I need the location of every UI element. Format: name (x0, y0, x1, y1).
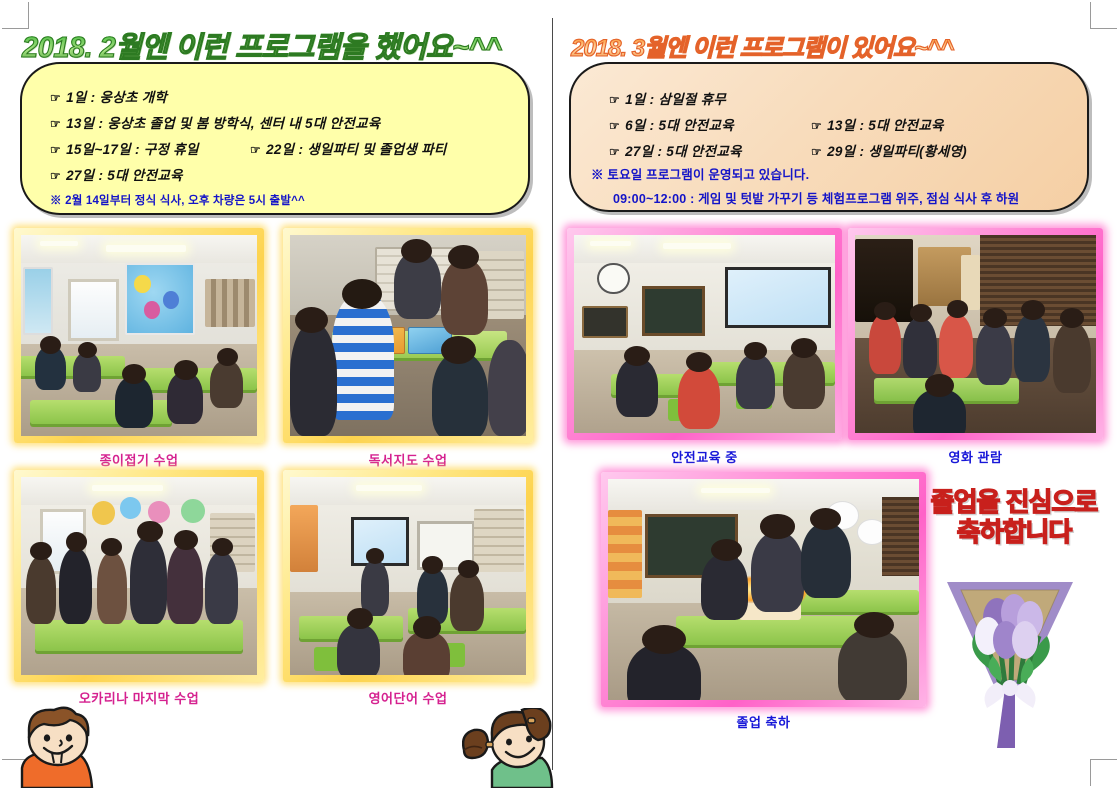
pointer-icon: ☞ (609, 119, 620, 133)
left-schedule-box: ☞1일 : 웅상초 개학 ☞13일 : 웅상초 졸업 및 봄 방학식, 센터 내… (20, 62, 530, 215)
photo-frame-ocarina (14, 470, 264, 682)
photo-frame-origami (14, 228, 264, 443)
photo-ocarina (21, 477, 257, 675)
photo-caption-reading: 독서지도 수업 (283, 450, 533, 469)
congratulations-wordart: 졸업을 진심으로 축하합니다 (928, 487, 1100, 547)
schedule-item: ☞13일 : 5대 안전교육 (811, 114, 944, 134)
pointer-icon: ☞ (50, 91, 61, 105)
cartoon-girl-icon (462, 708, 554, 788)
schedule-item: ☞22일 : 생일파티 및 졸업생 파티 (250, 138, 447, 158)
pointer-icon: ☞ (811, 145, 822, 159)
schedule-item: ☞29일 : 생일파티(황세영) (811, 140, 967, 160)
photo-frame-graduation (601, 472, 926, 707)
photo-frame-reading (283, 228, 533, 443)
right-note-line2: 09:00~12:00 : 게임 및 텃밭 가꾸기 등 체험프로그램 위주, 점… (613, 188, 1019, 207)
photo-caption-movie: 영화 관람 (848, 447, 1103, 466)
photo-caption-origami: 종이접기 수업 (14, 450, 264, 469)
left-heading: 2018. 2월엔 이런 프로그램을 했어요~^^ (22, 24, 501, 66)
schedule-item: ☞1일 : 삼일절 휴무 (609, 88, 726, 108)
pointer-icon: ☞ (250, 143, 261, 157)
right-heading: 2018. 3월엔 이런 프로그램이 있어요~^^ (571, 28, 953, 63)
pointer-icon: ☞ (50, 169, 61, 183)
schedule-item: ☞15일~17일 : 구정 휴일 (50, 138, 199, 158)
photo-origami (21, 235, 257, 436)
pointer-icon: ☞ (609, 93, 620, 107)
right-note-line1: ※ 토요일 프로그램이 운영되고 있습니다. (591, 164, 809, 183)
photo-caption-graduation: 졸업 축하 (601, 712, 926, 731)
photo-graduation (608, 479, 919, 700)
photo-caption-english: 영어단어 수업 (283, 688, 533, 707)
newsletter-page: 2018. 2월엔 이런 프로그램을 했어요~^^ ☞1일 : 웅상초 개학 ☞… (0, 0, 1119, 788)
pointer-icon: ☞ (50, 117, 61, 131)
schedule-item: ☞27일 : 5대 안전교육 (609, 140, 742, 160)
congrats-line-2: 축하합니다 (928, 517, 1100, 547)
left-column: 2018. 2월엔 이런 프로그램을 했어요~^^ ☞1일 : 웅상초 개학 ☞… (0, 0, 552, 788)
photo-movie (855, 235, 1096, 433)
photo-frame-english (283, 470, 533, 682)
photo-caption-safety: 안전교육 중 (567, 447, 842, 466)
photo-safety (574, 235, 835, 433)
photo-reading (290, 235, 526, 436)
pointer-icon: ☞ (50, 143, 61, 157)
congrats-line-1: 졸업을 진심으로 (931, 487, 1098, 517)
photo-english (290, 477, 526, 675)
cartoon-boy-icon (14, 706, 114, 788)
photo-frame-safety (567, 228, 842, 440)
schedule-item: ☞27일 : 5대 안전교육 (50, 164, 183, 184)
schedule-item: ☞13일 : 웅상초 졸업 및 봄 방학식, 센터 내 5대 안전교육 (50, 112, 381, 132)
pointer-icon: ☞ (609, 145, 620, 159)
left-note: ※ 2월 14일부터 정식 식사, 오후 차량은 5시 출발^^ (50, 192, 305, 208)
schedule-item: ☞6일 : 5대 안전교육 (609, 114, 734, 134)
tulip-bouquet-icon (935, 560, 1085, 750)
photo-frame-movie (848, 228, 1103, 440)
pointer-icon: ☞ (811, 119, 822, 133)
photo-caption-ocarina: 오카리나 마지막 수업 (14, 688, 264, 707)
right-schedule-box: ☞1일 : 삼일절 휴무 ☞6일 : 5대 안전교육 ☞13일 : 5대 안전교… (569, 62, 1089, 212)
schedule-item: ☞1일 : 웅상초 개학 (50, 86, 167, 106)
